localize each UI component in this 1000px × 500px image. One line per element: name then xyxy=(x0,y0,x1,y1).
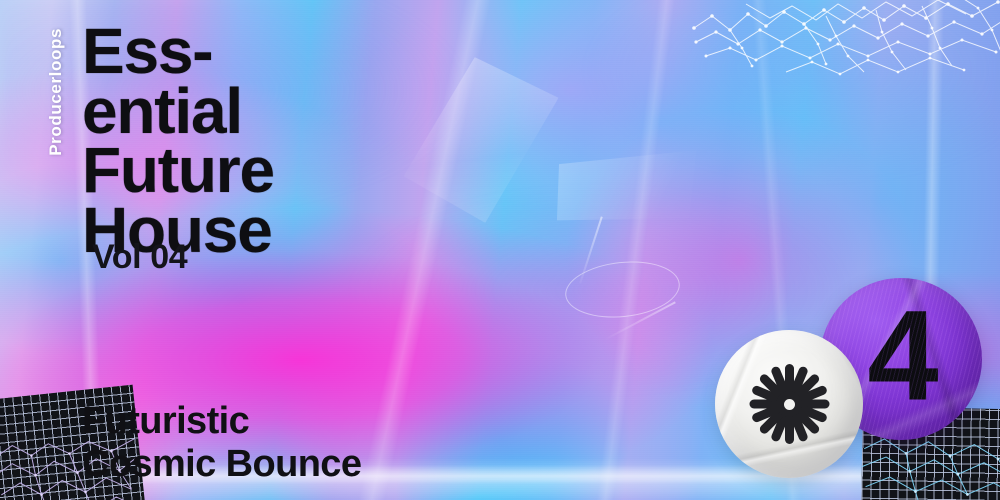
title-line-3: Future xyxy=(82,141,702,201)
node-network-icon xyxy=(686,0,1000,96)
logo-badge xyxy=(715,330,863,478)
subtitle-line-1: Futuristic xyxy=(82,400,361,443)
volume-label: Vol 04 xyxy=(92,240,187,274)
album-cover-artwork: Producerloops Ess- ential Future House V… xyxy=(0,0,1000,500)
flower-asterisk-icon xyxy=(746,361,832,447)
title-line-1: Ess- xyxy=(82,22,702,82)
flower-center-hole xyxy=(784,399,795,410)
film-ellipse-icon xyxy=(562,256,682,323)
subtitle-line-2: Cosmic Bounce xyxy=(82,443,361,486)
brand-vertical-label: Producerloops xyxy=(46,28,66,156)
film-streak-icon xyxy=(604,301,676,340)
title-line-2: ential xyxy=(82,82,702,142)
subtitle: Futuristic Cosmic Bounce xyxy=(82,400,361,485)
page-title: Ess- ential Future House xyxy=(82,22,702,260)
